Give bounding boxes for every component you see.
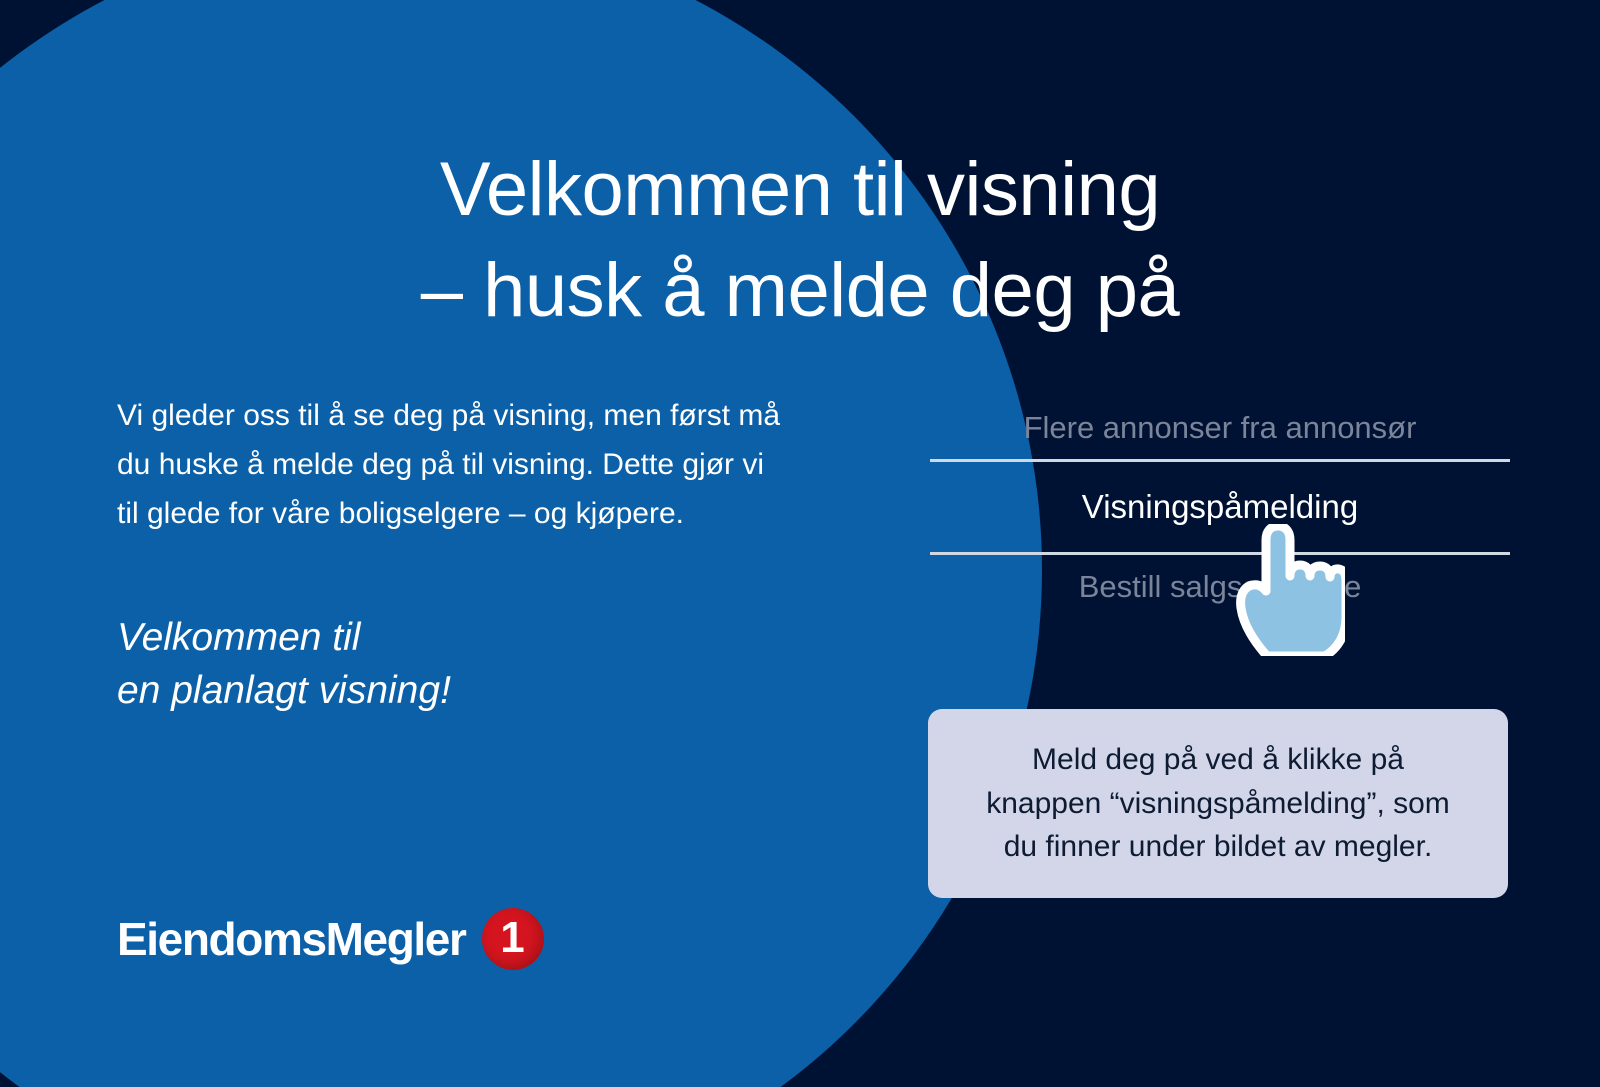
slide-canvas: Velkommen til visning – husk å melde deg…: [0, 0, 1600, 1087]
menu-item-visningspamelding[interactable]: Visningspåmelding: [930, 462, 1510, 552]
left-content-column: Vi gleder oss til å se deg på visning, m…: [117, 392, 877, 718]
pointing-hand-cursor-icon: [1233, 524, 1345, 656]
eiendomsmegler-logo: EiendomsMegler 1: [117, 908, 544, 970]
instruction-tooltip: Meld deg på ved å klikke på knappen “vis…: [928, 709, 1508, 898]
menu-item-flere-annonser[interactable]: Flere annonser fra annonsør: [930, 396, 1510, 459]
page-title: Velkommen til visning – husk å melde deg…: [0, 139, 1600, 341]
menu-item-bestill-salgsoppgave[interactable]: Bestill salgsoppgave: [930, 555, 1510, 618]
logo-wordmark: EiendomsMegler: [117, 916, 466, 962]
welcome-note: Velkommen til en planlagt visning!: [117, 611, 877, 719]
ad-menu: Flere annonser fra annonsør Visningspåme…: [930, 396, 1510, 618]
instruction-tooltip-text: Meld deg på ved å klikke på knappen “vis…: [986, 738, 1450, 869]
logo-badge-circle: 1: [482, 908, 544, 970]
intro-paragraph: Vi gleder oss til å se deg på visning, m…: [117, 392, 877, 539]
logo-badge-number: 1: [482, 908, 544, 970]
